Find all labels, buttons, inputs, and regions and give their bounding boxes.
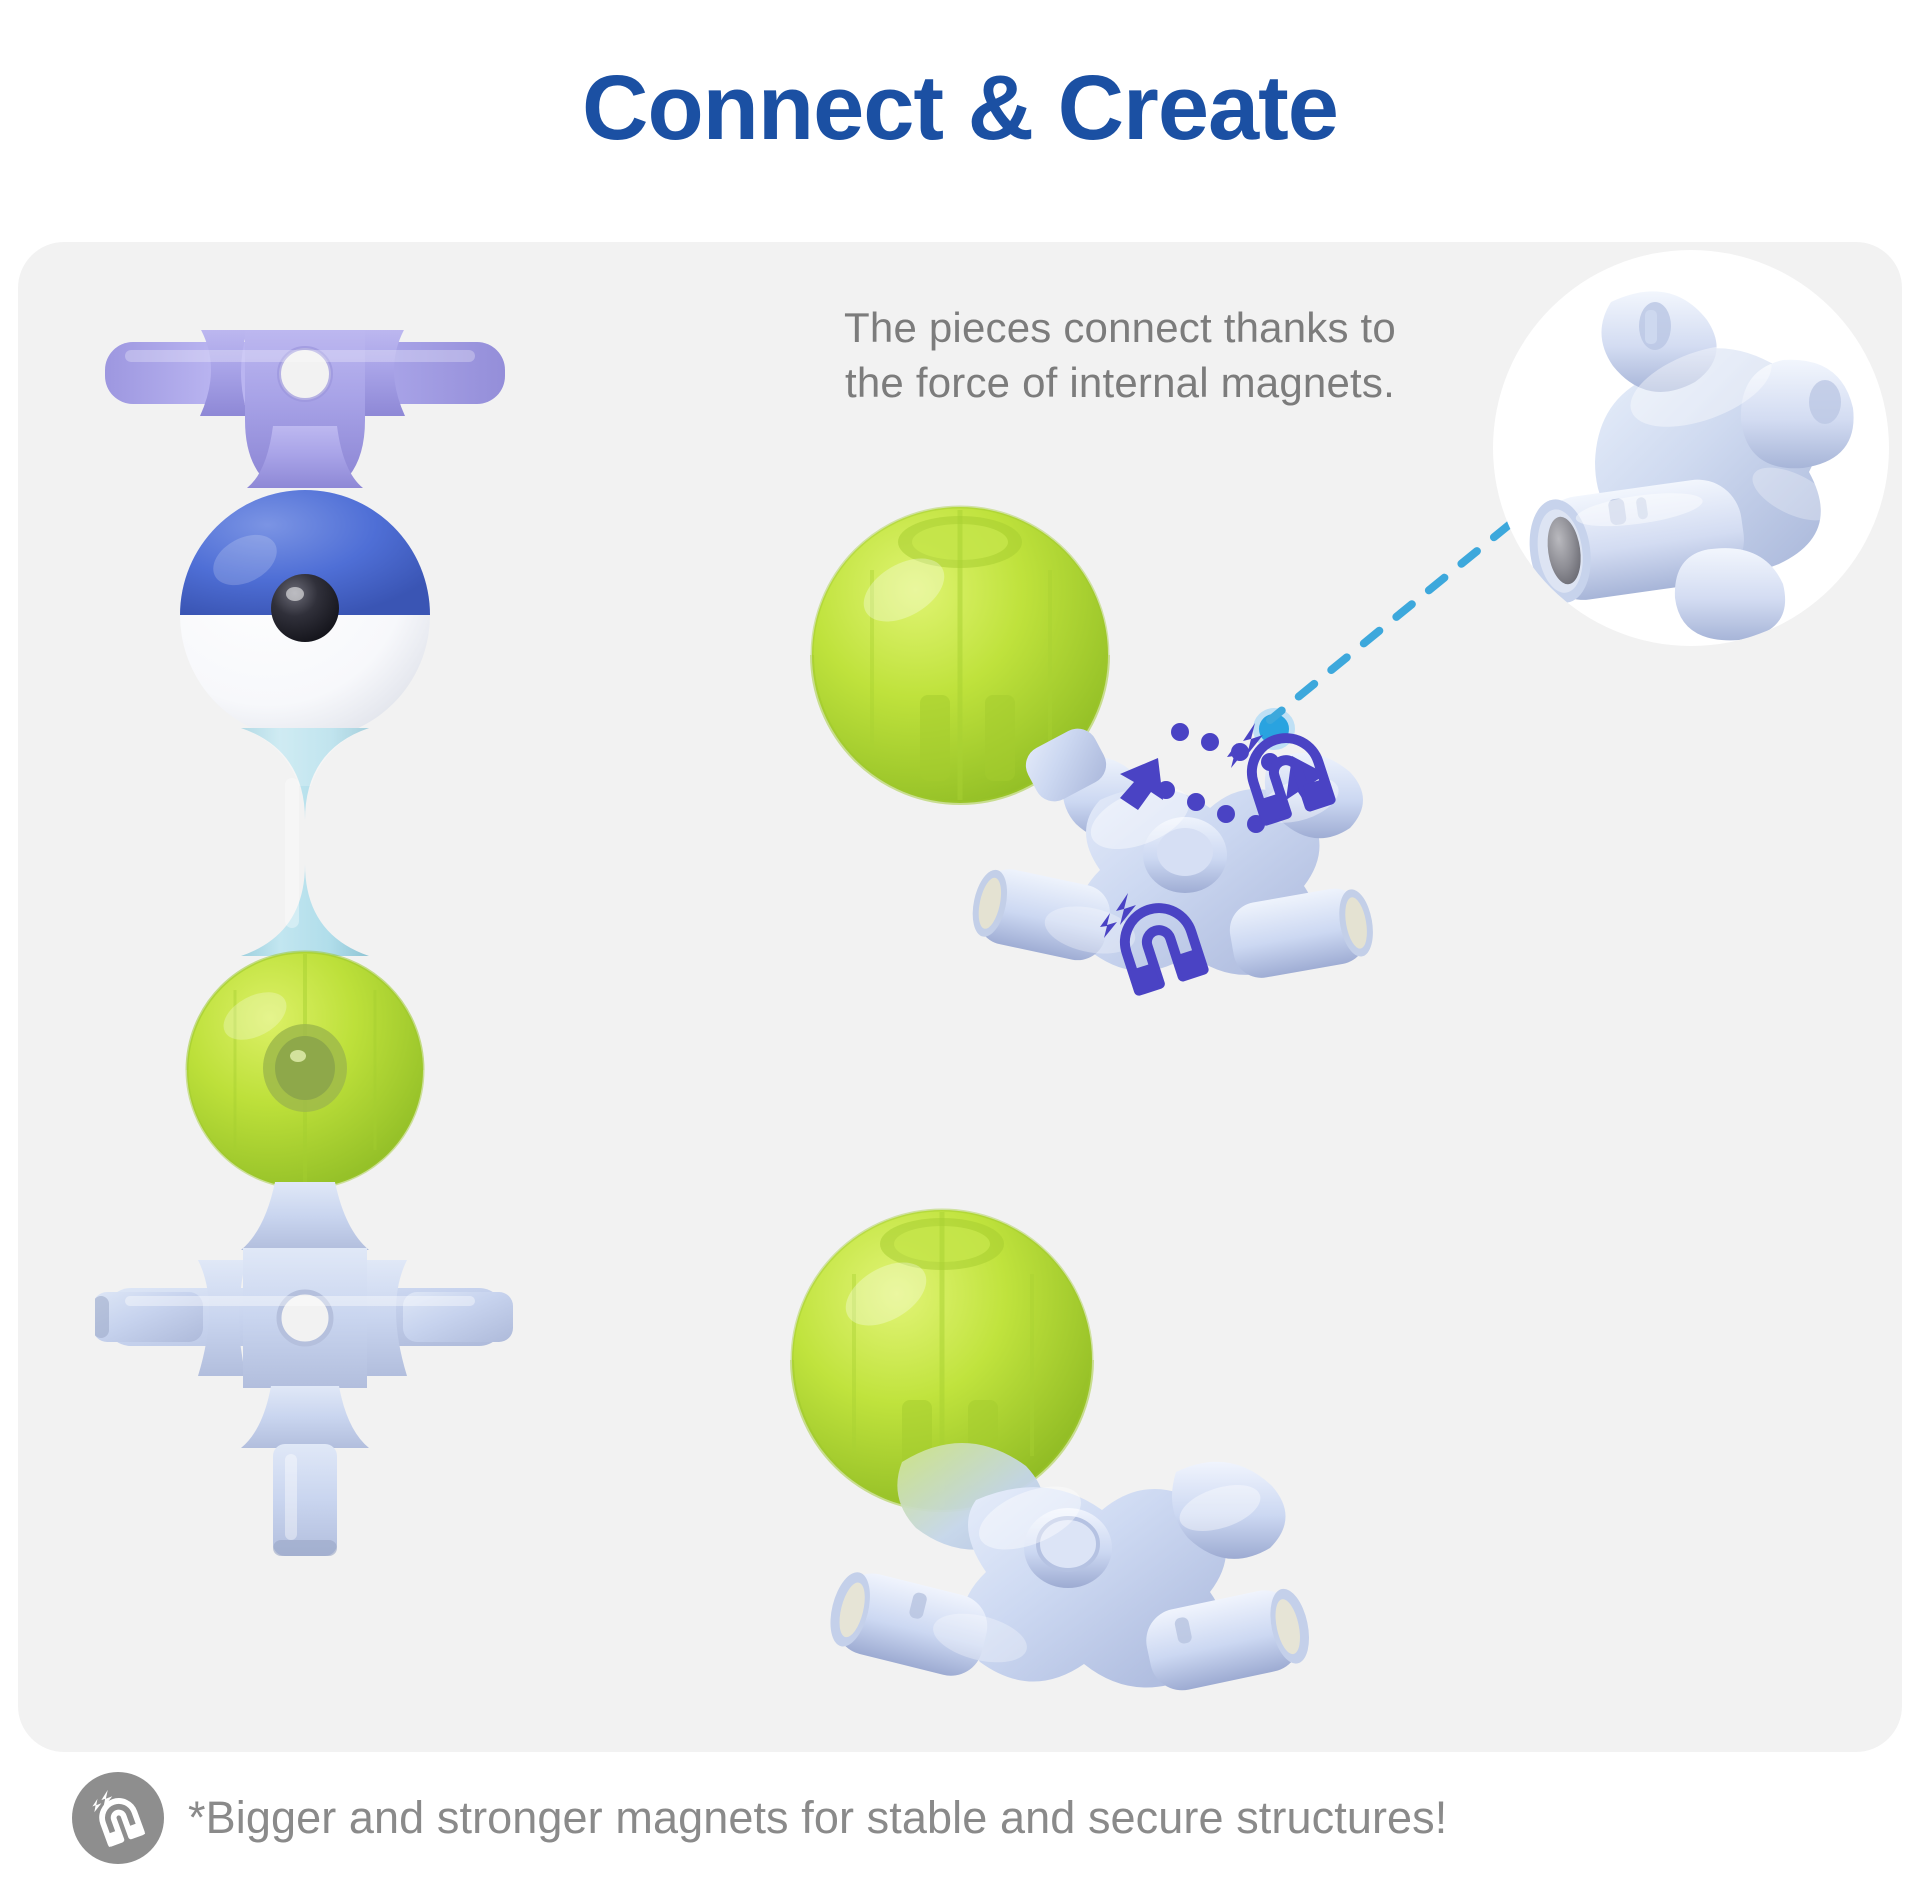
piece-ball-green-translucent	[187, 952, 423, 1188]
lower-connection-scene	[780, 1200, 1600, 1760]
magnified-connector-illustration	[1493, 250, 1889, 646]
infographic-page: Connect & Create The pieces connect than…	[0, 0, 1920, 1891]
caption-line-2: the force of internal magnets.	[705, 355, 1535, 410]
magnet-icon	[1098, 885, 1228, 1000]
zoom-bubble	[1493, 250, 1889, 646]
piece-cross-connector-pale-blue	[95, 1182, 513, 1556]
piece-rod-light-blue	[241, 728, 369, 956]
magnet-icon	[72, 1772, 164, 1864]
caption-text: The pieces connect thanks to the force o…	[705, 300, 1535, 411]
caption-line-1: The pieces connect thanks to	[705, 300, 1535, 355]
piece-t-connector-lavender	[105, 330, 505, 488]
piece-ball-blue-white	[180, 490, 430, 740]
zoom-callout-dashed-line	[1250, 490, 1550, 790]
footer-text: *Bigger and stronger magnets for stable …	[188, 1792, 1447, 1844]
page-title: Connect & Create	[0, 58, 1920, 159]
assembled-stack-illustration	[95, 330, 565, 1700]
footer-note: *Bigger and stronger magnets for stable …	[72, 1772, 1447, 1864]
